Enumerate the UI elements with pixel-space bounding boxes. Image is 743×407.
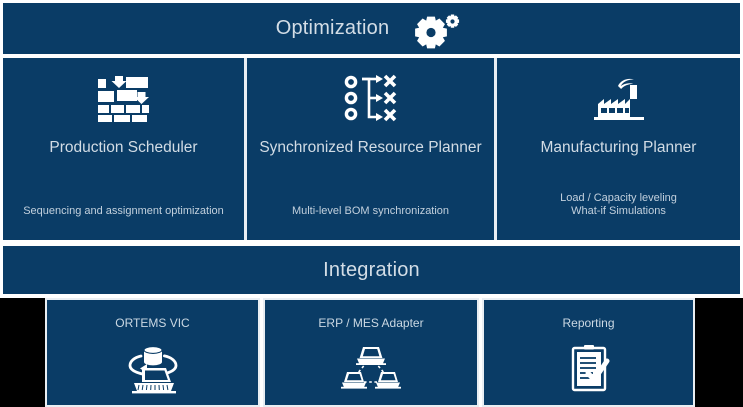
- card-title: ORTEMS VIC: [115, 316, 189, 330]
- pillars-row: Production Scheduler Sequencing and assi…: [3, 58, 740, 240]
- factory-icon: [590, 67, 648, 129]
- integration-cards-row: ORTEMS VIC: [0, 298, 743, 407]
- optimization-band: Optimization: [3, 3, 740, 54]
- pillar-title: Manufacturing Planner: [541, 139, 697, 157]
- pillar-subtitle: Multi-level BOM synchronization: [247, 205, 494, 218]
- pillar-subtitle-line-1: Sequencing and assignment optimization: [23, 205, 224, 217]
- pillar-subtitle: Load / Capacity leveling What-if Simulat…: [497, 192, 740, 218]
- resource-branching-network-icon: [343, 67, 399, 129]
- card-title: ERP / MES Adapter: [318, 316, 423, 330]
- pillar-subtitle-line-2: What-if Simulations: [503, 205, 734, 218]
- networked-laptops-icon: [265, 332, 477, 405]
- card-ortems-vic[interactable]: ORTEMS VIC: [45, 298, 260, 407]
- pillar-subtitle-line-1: Multi-level BOM synchronization: [292, 205, 449, 217]
- pillar-subtitle: Sequencing and assignment optimization: [3, 205, 244, 218]
- pillar-synchronized-resource-planner[interactable]: Synchronized Resource Planner Multi-leve…: [244, 58, 494, 240]
- database-sync-laptop-icon: [47, 332, 258, 405]
- card-reporting[interactable]: Reporting: [482, 298, 695, 407]
- pillar-manufacturing-planner[interactable]: Manufacturing Planner Load / Capacity le…: [494, 58, 740, 240]
- gears-icon: [411, 9, 467, 49]
- gantt-schedule-blocks-icon: [96, 67, 152, 129]
- card-title: Reporting: [562, 316, 614, 330]
- card-erp-mes-adapter[interactable]: ERP / MES Adapter: [263, 298, 479, 407]
- pillar-production-scheduler[interactable]: Production Scheduler Sequencing and assi…: [3, 58, 244, 240]
- integration-title: Integration: [323, 259, 420, 282]
- pillar-title: Synchronized Resource Planner: [259, 139, 481, 157]
- backdrop-right: [695, 298, 743, 407]
- pillar-subtitle-line-1: Load / Capacity leveling: [560, 192, 677, 204]
- integration-band: Integration: [3, 246, 740, 294]
- optimization-architecture-diagram: Optimization: [0, 0, 743, 407]
- pillar-title: Production Scheduler: [49, 139, 197, 157]
- backdrop-left: [0, 298, 45, 407]
- clipboard-checklist-icon: [484, 332, 693, 405]
- optimization-title: Optimization: [276, 17, 390, 40]
